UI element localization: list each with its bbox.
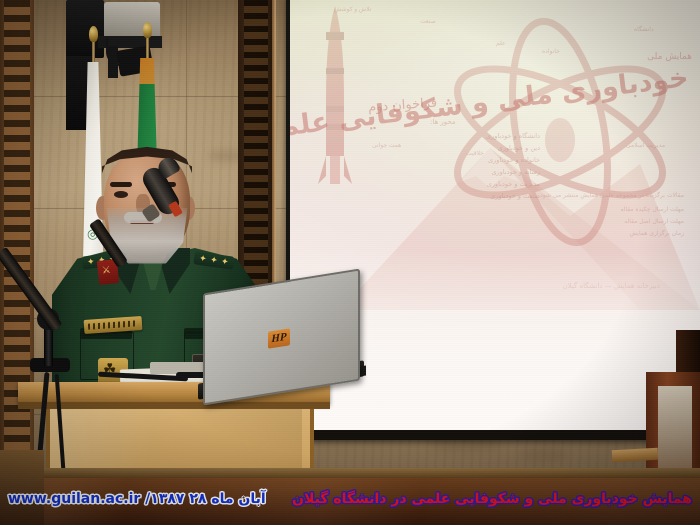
flag-finial-white	[89, 26, 98, 42]
caption-website-date: www.guilan.ac.ir /۱۳۸۷ آبان ماه ۲۸	[8, 490, 266, 508]
slide-info-line: مهلت ارسال اصل مقاله	[624, 218, 684, 225]
podium-top-edge	[18, 402, 330, 409]
caption-event-title: همایش خودباوری ملی و شکوفایی علمی در دان…	[292, 490, 692, 508]
slide-axis-item: خانواده و خودباوری	[488, 156, 540, 164]
projection-screen-bottom-bar	[286, 430, 700, 440]
slide-node-label: خلاقیت	[466, 150, 484, 157]
slide-info-line: مهلت ارسال چکیده مقاله	[620, 206, 684, 213]
floor-left-corner	[0, 450, 44, 525]
slide-node-label: خانواده	[542, 48, 560, 55]
floor-skirting	[0, 468, 700, 478]
slide-axis-item: دانشگاه و خودباوری	[486, 132, 540, 140]
slide-node-label: دانشگاه	[634, 26, 654, 33]
slide-axis-item: صنعت و خودباوری	[490, 192, 540, 200]
slide-node-label: همت جوانی	[372, 142, 401, 149]
slide-axis-item: رسانه و خودباوری	[491, 168, 540, 176]
eyebrow-left	[110, 182, 132, 187]
wall-speaker-box	[66, 0, 104, 58]
flag-finial-green	[143, 22, 152, 38]
slide-header: همایش ملی	[647, 52, 692, 62]
slide-axis-item: دین و خودباوری	[498, 144, 540, 152]
slide-node-label: تلاش و کوشش	[334, 6, 371, 13]
slide-node-label: صنعت	[420, 18, 436, 25]
photo-canvas: همایش ملی خودباوری ملی و شکوفایی علمی فر…	[0, 0, 700, 525]
slide-axes-heading: محور ها:	[430, 118, 456, 126]
slide-info-line: مقالات برگزیده در مجموعه علمی همایش منتش…	[540, 192, 684, 199]
hp-logo-text: HP	[271, 332, 286, 345]
slide-info-line: زمان برگزاری همایش	[630, 230, 684, 237]
slide-node-label: علم	[496, 40, 506, 47]
slide-node-label: مدیریت اسلامی	[626, 142, 665, 149]
chair-armrest	[612, 448, 659, 462]
slide-axis-item: مدیریت و خودباوری	[487, 180, 540, 188]
hp-logo-icon: HP	[268, 328, 290, 348]
wall-blotch	[520, 448, 568, 462]
eye-left	[114, 191, 128, 198]
